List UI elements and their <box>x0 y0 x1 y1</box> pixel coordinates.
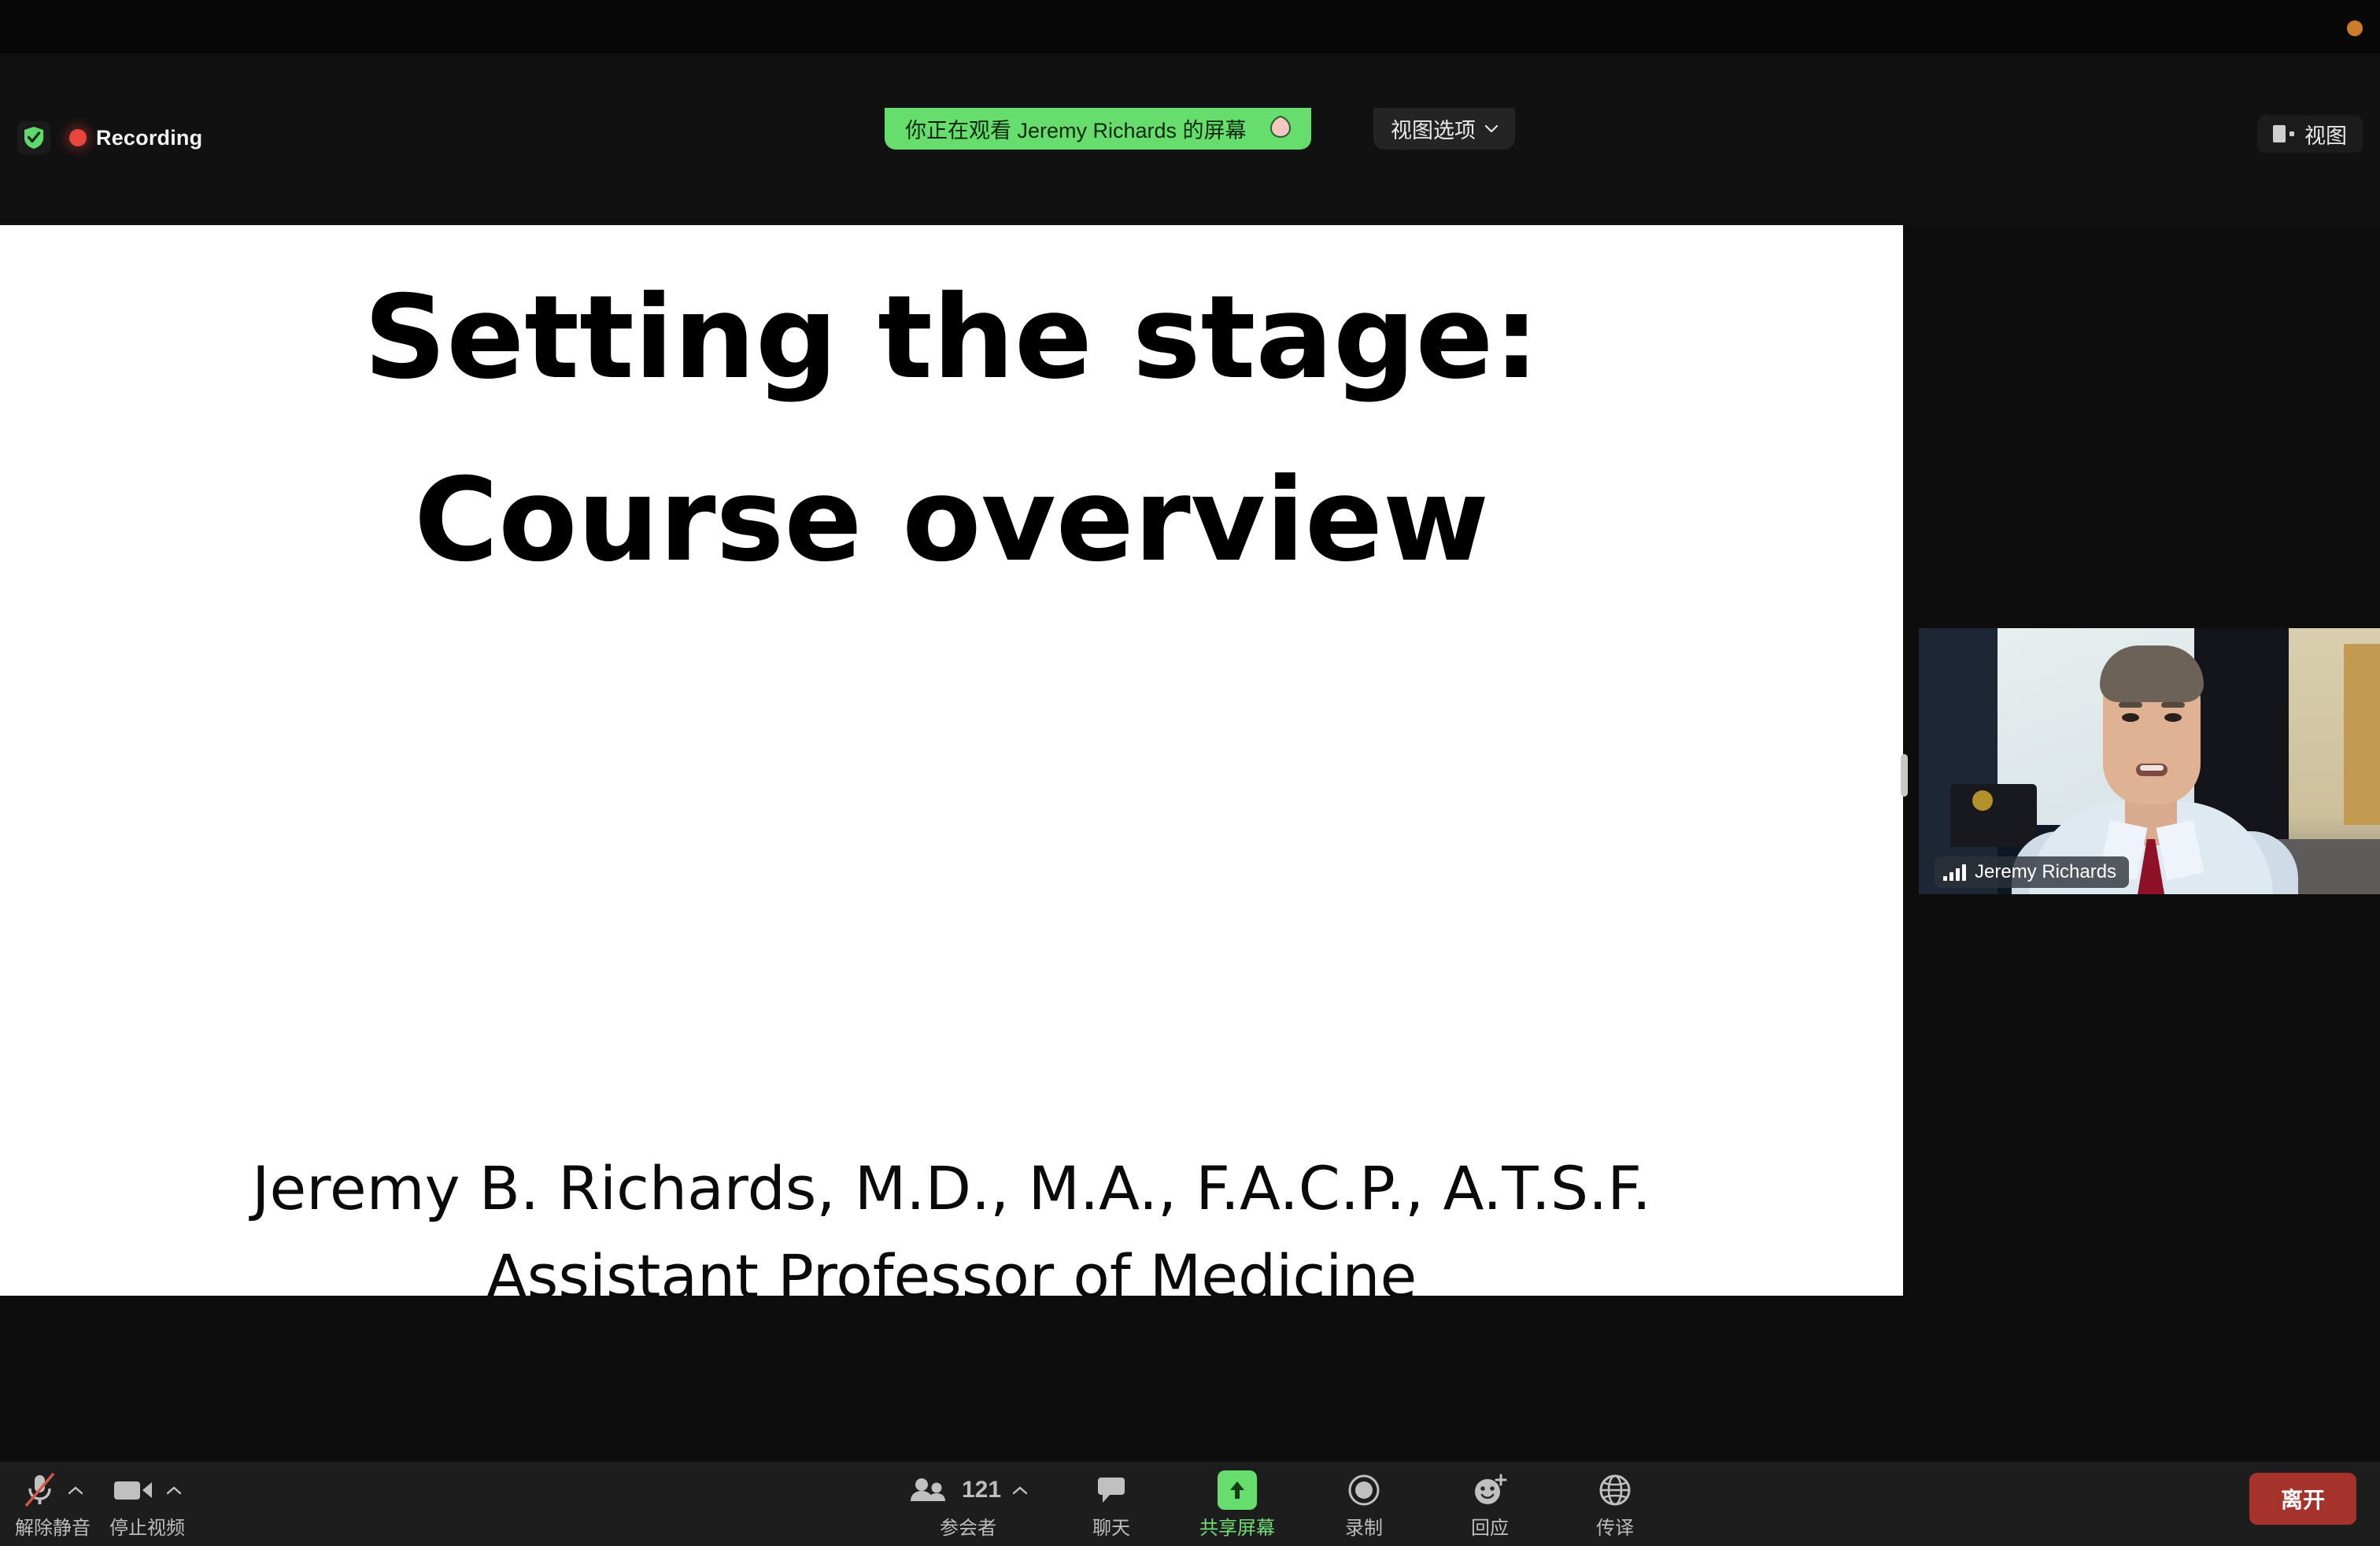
caret-up-icon[interactable] <box>166 1486 182 1495</box>
meeting-status-bar: Recording 你正在观看 Jeremy Richards 的屏幕 视图选项… <box>0 54 2380 225</box>
participants-button[interactable]: 121 参会者 <box>889 1470 1047 1540</box>
signal-bars-icon <box>1943 864 1966 881</box>
participant-name-label: Jeremy Richards <box>1975 861 2116 883</box>
share-screen-arrow-icon <box>1218 1470 1257 1510</box>
camera-icon <box>113 1476 155 1504</box>
reactions-smiley-icon <box>1472 1473 1508 1507</box>
screen-share-banner: 你正在观看 Jeremy Richards 的屏幕 <box>885 108 1311 150</box>
reactions-label: 回应 <box>1471 1512 1509 1540</box>
screen-share-banner-text: 你正在观看 Jeremy Richards 的屏幕 <box>905 113 1247 144</box>
participants-icon <box>908 1476 948 1504</box>
presenter-line: Assistant Professor of Medicine <box>0 1233 1903 1296</box>
caret-up-icon[interactable] <box>1012 1486 1028 1495</box>
leave-meeting-button[interactable]: 离开 <box>2249 1473 2356 1525</box>
layout-view-icon <box>2273 125 2294 142</box>
globe-interpretation-icon <box>1598 1473 1632 1507</box>
interpretation-button[interactable]: 传译 <box>1556 1470 1674 1540</box>
video-drag-handle[interactable] <box>1901 754 1908 797</box>
record-label: 录制 <box>1345 1512 1383 1540</box>
view-options-label: 视图选项 <box>1391 113 1476 144</box>
record-circle-icon <box>1347 1473 1381 1507</box>
stop-video-label: 停止视频 <box>109 1512 185 1540</box>
recording-dot-icon <box>69 129 87 146</box>
slide-title: Setting the stage: Course overview <box>0 280 1903 578</box>
slide-title-line-2: Course overview <box>0 463 1903 578</box>
microphone-muted-icon <box>22 1472 57 1508</box>
view-layout-label: 视图 <box>2304 119 2347 150</box>
interpretation-label: 传译 <box>1596 1512 1634 1540</box>
leave-meeting-label: 离开 <box>2281 1488 2325 1512</box>
zoom-meeting-window: Recording 你正在观看 Jeremy Richards 的屏幕 视图选项… <box>0 0 2380 1546</box>
shared-screen-slide[interactable]: Setting the stage: Course overview Jerem… <box>0 225 1903 1296</box>
reactions-button[interactable]: 回应 <box>1431 1470 1549 1540</box>
record-button[interactable]: 录制 <box>1305 1470 1423 1540</box>
recording-indicator[interactable]: Recording <box>69 123 202 153</box>
chat-label: 聊天 <box>1092 1512 1130 1540</box>
participant-name-badge: Jeremy Richards <box>1935 856 2129 888</box>
caret-up-icon[interactable] <box>68 1486 83 1495</box>
participants-label: 参会者 <box>940 1512 996 1540</box>
stop-video-button[interactable]: 停止视频 <box>88 1470 206 1540</box>
chat-bubble-icon <box>1095 1474 1128 1506</box>
recording-label: Recording <box>96 126 202 150</box>
presenter-line: Jeremy B. Richards, M.D., M.A., F.A.C.P.… <box>0 1145 1903 1233</box>
chat-button[interactable]: 聊天 <box>1052 1470 1170 1540</box>
participant-video-tile[interactable] <box>1919 628 2380 894</box>
slide-title-line-1: Setting the stage: <box>364 271 1539 405</box>
shield-check-icon[interactable] <box>17 121 50 154</box>
leaf-icon <box>1267 113 1294 144</box>
chevron-down-icon <box>1485 125 1498 132</box>
video-feed <box>1919 628 2380 894</box>
window-traffic-light-dot[interactable] <box>2347 20 2363 36</box>
share-screen-button[interactable]: 共享屏幕 <box>1178 1470 1296 1540</box>
view-options-dropdown[interactable]: 视图选项 <box>1373 108 1515 150</box>
meeting-toolbar: 解除静音 停止视频 <box>0 1462 2380 1546</box>
unmute-label: 解除静音 <box>15 1512 91 1540</box>
share-screen-label: 共享屏幕 <box>1199 1512 1275 1540</box>
window-titlebar <box>0 0 2380 54</box>
participants-count: 121 <box>962 1477 1001 1503</box>
slide-presenter-block: Jeremy B. Richards, M.D., M.A., F.A.C.P.… <box>0 1145 1903 1296</box>
view-layout-button[interactable]: 视图 <box>2257 115 2363 153</box>
